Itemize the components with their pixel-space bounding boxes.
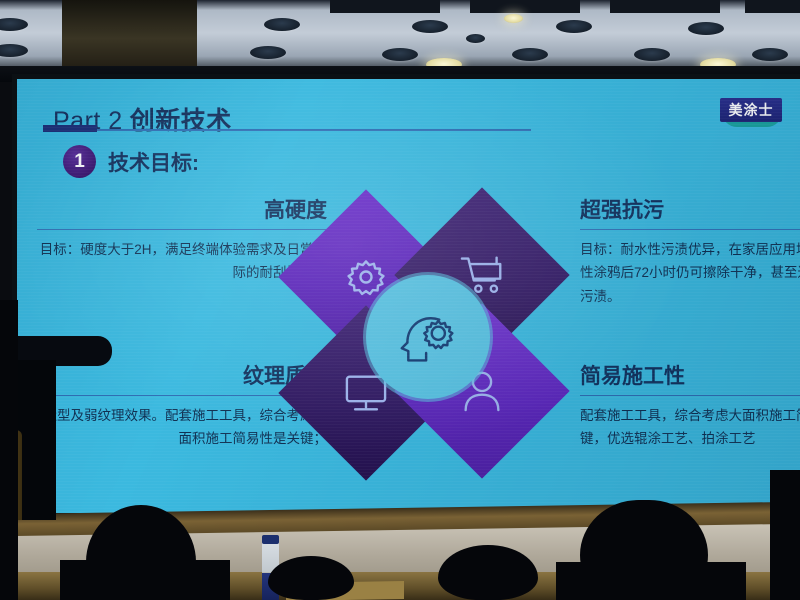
conference-room-photo: Part 2创新技术 1 技术目标: 美涂士 高硬度 目标：硬度大于2H，满足终…: [0, 0, 800, 600]
quadrant-rule: [580, 229, 800, 230]
section-number-badge: 1: [63, 145, 96, 178]
title-underline: [43, 129, 531, 131]
center-circle: [366, 275, 490, 399]
bottle-cap: [262, 535, 279, 544]
ceiling: [0, 0, 800, 72]
section-heading: 1 技术目标:: [63, 145, 199, 178]
ceiling-downlight: [634, 48, 670, 61]
ceiling-vent: [745, 0, 800, 13]
ceiling-downlight: [688, 22, 724, 35]
quadrant-heading: 高硬度: [37, 199, 327, 222]
ceiling-vent: [470, 0, 580, 13]
audience-shoulders: [556, 562, 746, 600]
head-gear-icon: [396, 307, 460, 367]
audience-head: [268, 556, 354, 600]
left-edge-object: [0, 300, 18, 600]
ceiling-downlight: [0, 44, 28, 57]
ceiling-downlight: [466, 34, 485, 43]
quadrant-bottom-right: 简易施工性 配套施工工具，综合考虑大面积施工简易性是关键，优选辊涂工艺、拍涂工艺: [580, 365, 800, 451]
ceiling-downlight: [0, 18, 28, 31]
ceiling-downlight: [250, 46, 286, 59]
ceiling-downlight: [512, 48, 548, 61]
ceiling-downlight: [264, 18, 300, 31]
ceiling-downlight: [752, 48, 788, 61]
ceiling-downlight: [382, 48, 418, 61]
ceiling-downlight: [412, 20, 448, 33]
title-accent-tab: [43, 125, 97, 132]
quadrant-heading: 简易施工性: [580, 365, 800, 388]
logo-text: 美涂士: [720, 98, 782, 122]
brand-logo: 美涂士: [720, 98, 784, 126]
right-edge-object: [770, 470, 800, 600]
quadrant-bottom-left: 纹理质感 造型及弱纹理效果。配套施工工具，综合考虑大面积施工简易性是关键；: [37, 365, 327, 451]
quadrant-body: 目标：耐水性污渍优异，在家居应用场景中，耐水性涂鸦后72小时仍可擦除干净，甚至达…: [580, 238, 800, 308]
ceiling-dark-panel: [62, 0, 197, 70]
diamond-diagram: [300, 197, 550, 477]
quadrant-heading: 超强抗污: [580, 199, 800, 222]
quadrant-rule: [580, 395, 800, 396]
ceiling-vent: [610, 0, 720, 13]
ceiling-downlight: [556, 20, 592, 33]
quadrant-top-right: 超强抗污 目标：耐水性污渍优异，在家居应用场景中，耐水性涂鸦后72小时仍可擦除干…: [580, 199, 800, 308]
ceiling-vent: [330, 0, 440, 13]
ceiling-downlight-lit: [504, 14, 523, 23]
audience-shoulders: [60, 560, 230, 600]
quadrant-body: 配套施工工具，综合考虑大面积施工简易性是关键，优选辊涂工艺、拍涂工艺: [580, 404, 800, 450]
section-label: 技术目标:: [108, 147, 199, 177]
quadrant-body: 造型及弱纹理效果。配套施工工具，综合考虑大面积施工简易性是关键；: [37, 404, 327, 450]
quadrant-heading: 纹理质感: [37, 365, 327, 388]
projection-screen: Part 2创新技术 1 技术目标: 美涂士 高硬度 目标：硬度大于2H，满足终…: [17, 79, 800, 513]
quadrant-rule: [37, 229, 327, 230]
